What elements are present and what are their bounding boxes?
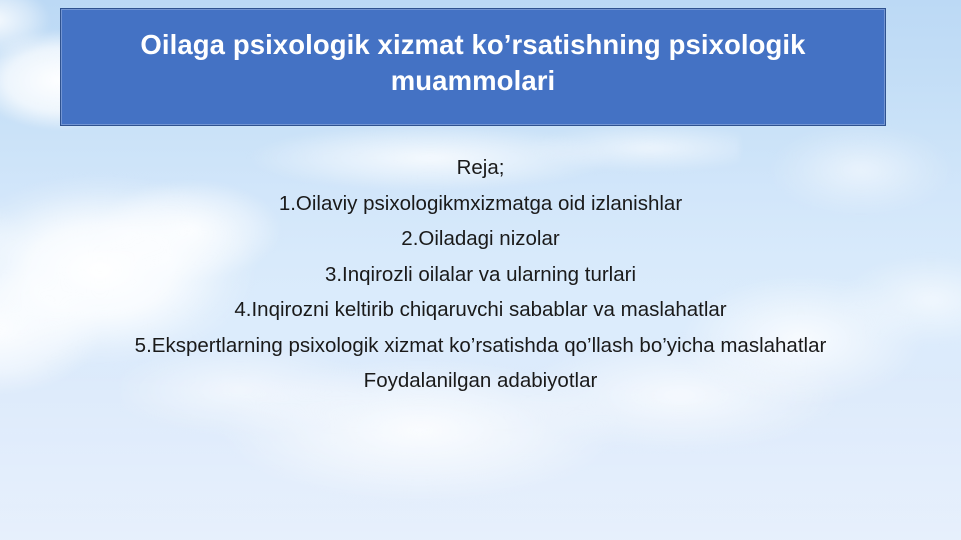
body-line-item-2: 2.Oiladagi nizolar — [0, 221, 961, 257]
body-line-references: Foydalanilgan adabiyotlar — [0, 363, 961, 399]
body-line-item-1: 1.Oilaviy psixologikmxizmatga oid izlani… — [0, 186, 961, 222]
body-line-heading: Reja; — [0, 150, 961, 186]
slide-body-text: Reja; 1.Oilaviy psixologikmxizmatga oid … — [0, 150, 961, 399]
slide-title: Oilaga psixologik xizmat ko’rsatishning … — [61, 9, 885, 100]
body-line-item-5: 5.Ekspertlarning psixologik xizmat ko’rs… — [0, 328, 961, 364]
body-line-item-3: 3.Inqirozli oilalar va ularning turlari — [0, 257, 961, 293]
slide-canvas: Oilaga psixologik xizmat ko’rsatishning … — [0, 0, 961, 540]
body-line-item-4: 4.Inqirozni keltirib chiqaruvchi sababla… — [0, 292, 961, 328]
slide-title-box: Oilaga psixologik xizmat ko’rsatishning … — [60, 8, 886, 126]
